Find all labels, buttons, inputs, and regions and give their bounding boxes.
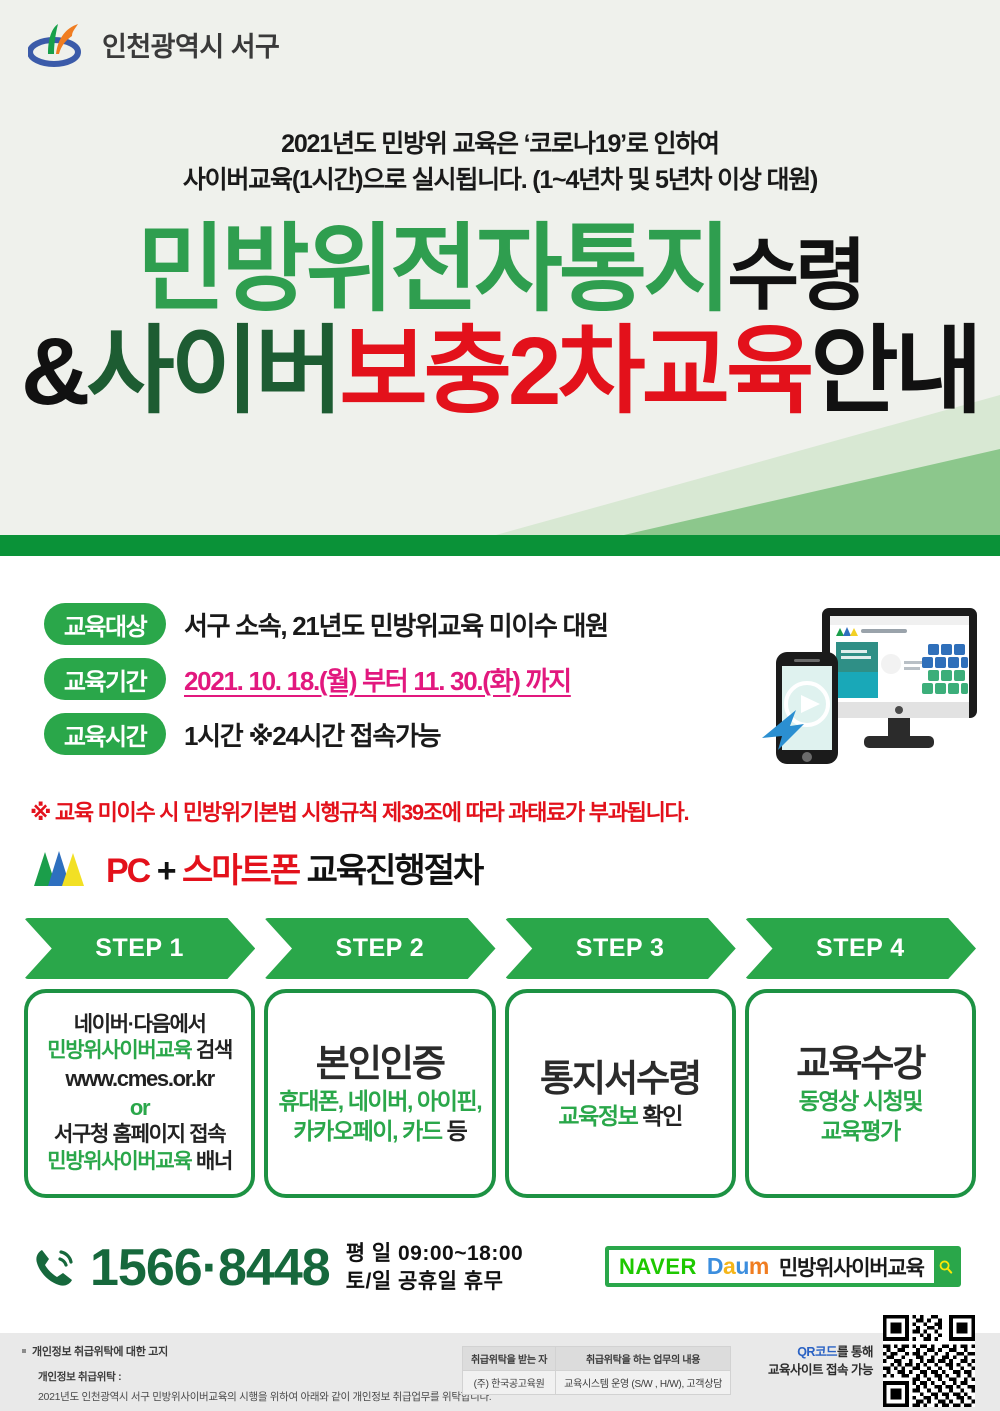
step1-line-6: 민방위사이버교육 배너 xyxy=(47,1149,232,1176)
three-triangles-icon xyxy=(32,848,92,888)
footer: 개인정보 취급위탁에 대한 고지 개인정보 취급위탁 : 2021년도 인천광역… xyxy=(0,1333,1000,1411)
privacy-notice: 개인정보 취급위탁에 대한 고지 개인정보 취급위탁 : 2021년도 인천광역… xyxy=(22,1343,491,1404)
hero-title-line1-black: 수령 xyxy=(727,231,863,319)
section-title-rest: 교육진행절차 xyxy=(307,852,483,890)
table-cell-company: (주) 한국공고육원 xyxy=(463,1371,556,1395)
info-label-target: 교육대상 xyxy=(44,603,166,645)
step-arrow-1[interactable]: STEP 1 xyxy=(24,918,255,979)
qr-caption-line2: 교육사이트 접속 가능 xyxy=(768,1361,873,1379)
table-header-1: 취급위탁을 하는 업무의 내용 xyxy=(556,1347,731,1371)
hero-title-line2-black: 안내 xyxy=(810,318,979,425)
poster-root: 인천광역시 서구 2021년도 민방위 교육은 ‘코로나19’로 인하여 사이버… xyxy=(0,0,1000,1411)
phone-ringing-icon xyxy=(30,1244,78,1292)
privacy-notice-body: 2021년도 인천광역시 서구 민방위사이버교육의 시행을 위하여 아래와 같이… xyxy=(38,1389,491,1404)
privacy-notice-subtitle: 개인정보 취급위탁 : xyxy=(38,1369,491,1384)
info-label-duration: 교육시간 xyxy=(44,713,166,755)
section-title-pc: PC xyxy=(106,852,149,890)
hero-title-line1: 민방위전자통지수령 xyxy=(0,222,1000,318)
step-column-2: STEP 2 본인인증 휴대폰, 네이버, 아이핀, 카카오페이, 카드 등 xyxy=(264,918,495,1198)
phone-number[interactable]: 1566·8448 xyxy=(90,1242,330,1294)
process-section-title: PC + 스마트폰 교육진행절차 xyxy=(106,843,482,892)
step-box-2: 본인인증 휴대폰, 네이버, 아이핀, 카카오페이, 카드 등 xyxy=(264,989,495,1198)
qr-code-icon[interactable] xyxy=(883,1315,975,1407)
info-value-target: 서구 소속, 21년도 민방위교육 미이수 대원 xyxy=(184,606,608,643)
naver-logo: NAVER xyxy=(619,1254,697,1280)
table-row: (주) 한국공고육원 교육시스템 운영 (S/W , H/W), 고객상담 xyxy=(463,1371,731,1395)
step-arrow-label-4: STEP 4 xyxy=(816,934,905,963)
magnifier-icon[interactable] xyxy=(938,1252,953,1282)
step-arrow-label-3: STEP 3 xyxy=(576,934,665,963)
hero-title-line2-red: 보충2차교육 xyxy=(339,318,810,425)
step1-url[interactable]: www.cmes.or.kr xyxy=(65,1065,214,1093)
step4-title: 교육수강 xyxy=(796,1040,924,1087)
section-title-smartphone: 스마트폰 xyxy=(182,852,299,890)
daum-logo: Daum xyxy=(707,1253,769,1280)
section-title-plus: + xyxy=(157,852,175,890)
hero-title-line2-dgreen: 사이버 xyxy=(86,318,339,425)
hero-title: 민방위전자통지수령 &사이버보충2차교육안내 xyxy=(0,222,1000,420)
hero-title-ampersand: & xyxy=(21,318,86,425)
step-column-3: STEP 3 통지서수령 교육정보 확인 xyxy=(505,918,736,1198)
business-hours: 평 일 09:00~18:00 토/일 공휴일 휴무 xyxy=(346,1240,524,1297)
step1-or: or xyxy=(130,1094,149,1122)
step-arrow-label-1: STEP 1 xyxy=(95,934,184,963)
step4-line-3: 교육평가 xyxy=(821,1117,900,1147)
business-hours-line1: 평 일 09:00~18:00 xyxy=(346,1240,524,1268)
step1-line-1: 네이버·다음에서 xyxy=(74,1012,206,1039)
search-keyword: 민방위사이버교육 xyxy=(779,1252,924,1282)
info-value-period: 2021. 10. 18.(월) 부터 11. 30.(화) 까지 xyxy=(184,661,571,698)
search-banner[interactable]: NAVER Daum 민방위사이버교육 xyxy=(605,1246,961,1287)
table-header-row: 취급위탁을 받는 자 취급위탁을 하는 업무의 내용 xyxy=(463,1347,731,1371)
step2-line-3: 카카오페이, 카드 등 xyxy=(293,1117,466,1147)
info-rows: 교육대상 서구 소속, 21년도 민방위교육 미이수 대원 교육기간 2021.… xyxy=(44,603,608,755)
business-hours-line2: 토/일 공휴일 휴무 xyxy=(346,1268,524,1296)
step-arrow-4[interactable]: STEP 4 xyxy=(745,918,976,979)
step-arrow-label-2: STEP 2 xyxy=(336,934,425,963)
qr-caption-line1: QR코드를 통해 xyxy=(768,1343,873,1361)
search-banner-inner: NAVER Daum 민방위사이버교육 xyxy=(609,1250,934,1283)
penalty-warning-text: ※ 교육 미이수 시 민방위기본법 시행규칙 제39조에 따라 과태료가 부과됩… xyxy=(30,795,688,827)
steps-container: STEP 1 네이버·다음에서 민방위사이버교육 검색 www.cmes.or.… xyxy=(24,918,976,1198)
qr-block: QR코드를 통해 교육사이트 접속 가능 xyxy=(768,1315,975,1407)
step3-title: 통지서수령 xyxy=(540,1055,700,1102)
step2-title: 본인인증 xyxy=(316,1040,444,1087)
step-column-4: STEP 4 교육수강 동영상 시청및 교육평가 xyxy=(745,918,976,1198)
hero-section: 인천광역시 서구 2021년도 민방위 교육은 ‘코로나19’로 인하여 사이버… xyxy=(0,0,1000,556)
step1-line-2: 민방위사이버교육 검색 xyxy=(47,1038,232,1065)
info-row-duration: 교육시간 1시간 ※24시간 접속가능 xyxy=(44,713,608,755)
step3-line-2: 교육정보 확인 xyxy=(558,1102,682,1132)
step-column-1: STEP 1 네이버·다음에서 민방위사이버교육 검색 www.cmes.or.… xyxy=(24,918,255,1198)
contact-block: 1566·8448 평 일 09:00~18:00 토/일 공휴일 휴무 xyxy=(30,1240,523,1297)
hero-green-divider xyxy=(0,535,1000,556)
hero-title-line2: &사이버보충2차교육안내 xyxy=(0,324,1000,420)
step2-line-2: 휴대폰, 네이버, 아이핀, xyxy=(278,1087,481,1117)
incheon-seogu-emblem-icon xyxy=(28,18,90,70)
step-arrow-3[interactable]: STEP 3 xyxy=(505,918,736,979)
info-row-period: 교육기간 2021. 10. 18.(월) 부터 11. 30.(화) 까지 xyxy=(44,658,608,700)
table-header-0: 취급위탁을 받는 자 xyxy=(463,1347,556,1371)
hero-subtitle: 2021년도 민방위 교육은 ‘코로나19’로 인하여 사이버교육(1시간)으로… xyxy=(0,127,1000,198)
process-section-heading: PC + 스마트폰 교육진행절차 xyxy=(32,843,482,892)
info-row-target: 교육대상 서구 소속, 21년도 민방위교육 미이수 대원 xyxy=(44,603,608,645)
step-box-3: 통지서수령 교육정보 확인 xyxy=(505,989,736,1198)
pc-and-smartphone-illustration-icon xyxy=(760,600,985,780)
hero-subtitle-line1: 2021년도 민방위 교육은 ‘코로나19’로 인하여 xyxy=(0,127,1000,163)
qr-caption: QR코드를 통해 교육사이트 접속 가능 xyxy=(768,1343,873,1379)
consignment-table: 취급위탁을 받는 자 취급위탁을 하는 업무의 내용 (주) 한국공고육원 교육… xyxy=(462,1346,731,1395)
org-logo: 인천광역시 서구 xyxy=(28,18,279,70)
table-cell-task: 교육시스템 운영 (S/W , H/W), 고객상담 xyxy=(556,1371,731,1395)
step-arrow-2[interactable]: STEP 2 xyxy=(264,918,495,979)
step-box-1: 네이버·다음에서 민방위사이버교육 검색 www.cmes.or.kr or 서… xyxy=(24,989,255,1198)
step-box-4: 교육수강 동영상 시청및 교육평가 xyxy=(745,989,976,1198)
step1-line-5: 서구청 홈페이지 접속 xyxy=(54,1122,225,1149)
hero-subtitle-line2: 사이버교육(1시간)으로 실시됩니다. (1~4년차 및 5년차 이상 대원) xyxy=(0,163,1000,199)
hero-title-line1-green: 민방위전자통지 xyxy=(137,216,727,323)
step4-line-2: 동영상 시청및 xyxy=(799,1087,923,1117)
info-value-duration: 1시간 ※24시간 접속가능 xyxy=(184,716,440,753)
org-name: 인천광역시 서구 xyxy=(102,25,279,64)
privacy-notice-title: 개인정보 취급위탁에 대한 고지 xyxy=(22,1343,491,1359)
info-label-period: 교육기간 xyxy=(44,658,166,700)
